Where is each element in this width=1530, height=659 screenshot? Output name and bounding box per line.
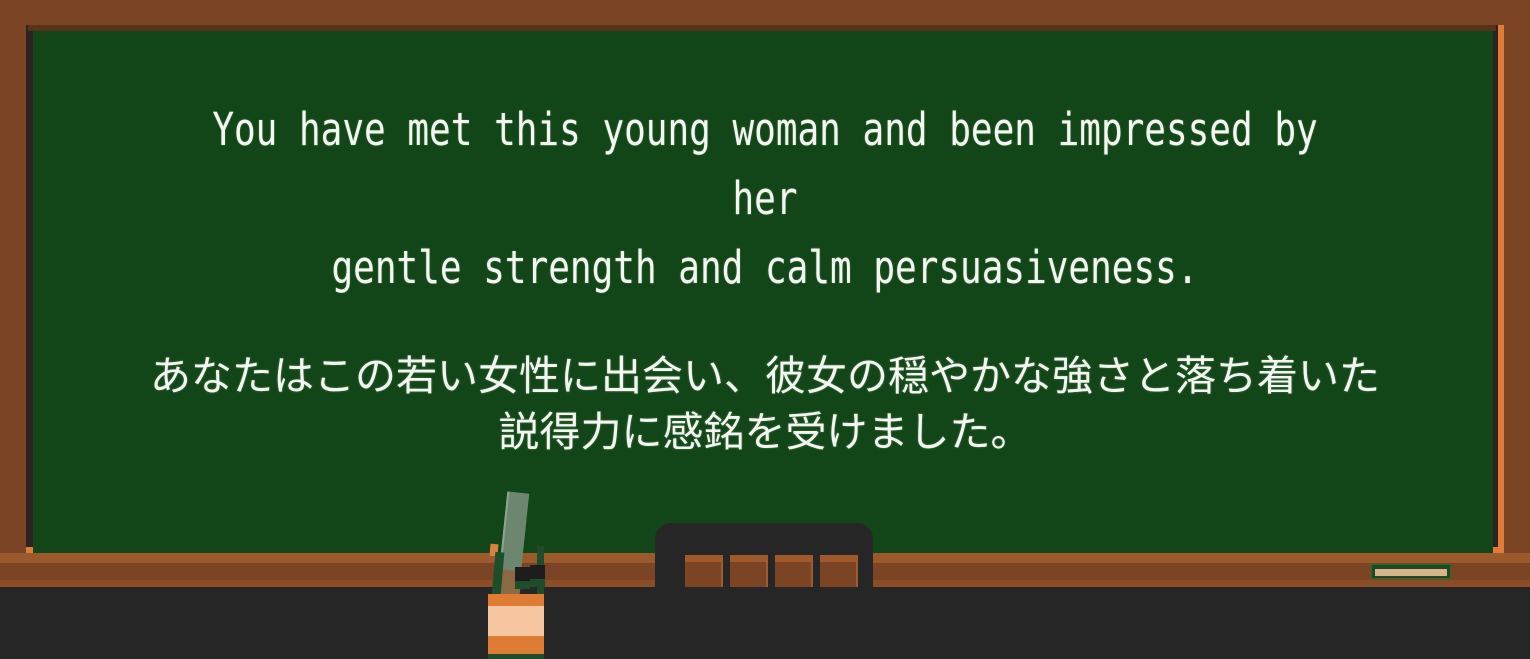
board-top-lip bbox=[28, 25, 1496, 31]
chair-slat bbox=[775, 555, 813, 587]
chair-slat bbox=[730, 555, 768, 587]
cup-rim bbox=[488, 594, 544, 606]
pencil-cup[interactable] bbox=[478, 490, 568, 659]
chair-slat bbox=[820, 555, 858, 587]
cup-base bbox=[488, 636, 544, 656]
chalkboard-eraser[interactable] bbox=[1371, 564, 1451, 579]
marker bbox=[530, 565, 545, 587]
chair-back[interactable] bbox=[655, 523, 873, 659]
marker bbox=[515, 567, 530, 589]
eraser-felt bbox=[1375, 569, 1447, 576]
cup-body bbox=[488, 606, 544, 636]
chair-slat bbox=[685, 555, 723, 587]
cup-foot bbox=[488, 654, 544, 659]
chalkboard-surface[interactable] bbox=[33, 31, 1493, 553]
classroom-scene: You have met this young woman and been i… bbox=[0, 0, 1530, 659]
